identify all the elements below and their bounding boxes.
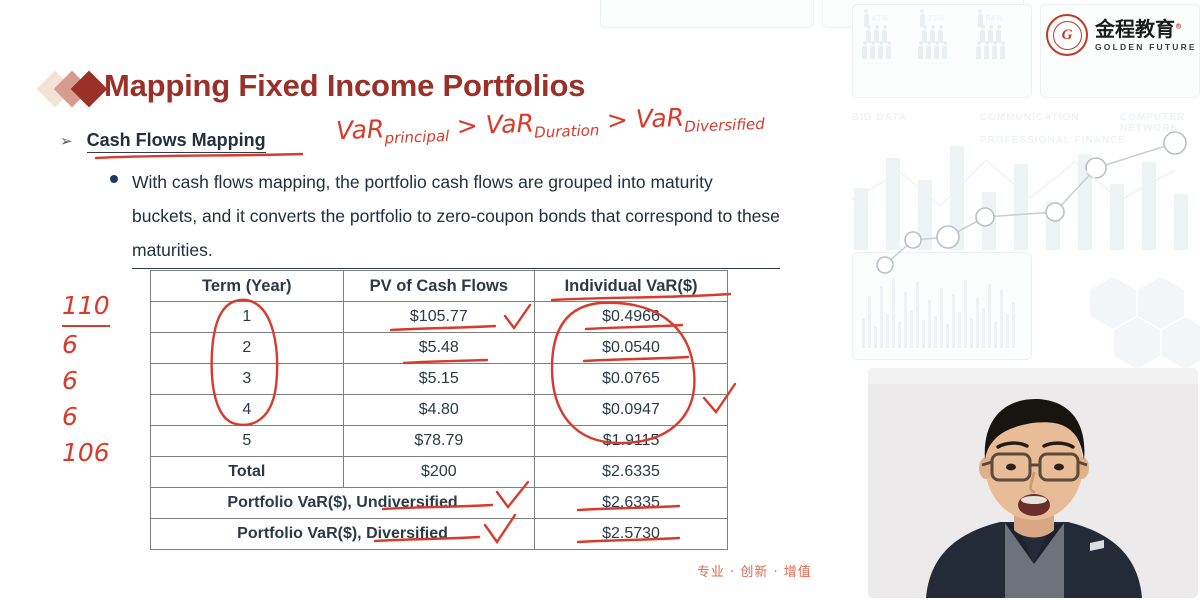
arrow-bullet-icon: ➢ bbox=[60, 134, 73, 149]
bg-people-group-1: 47% bbox=[862, 14, 891, 59]
table-row: 1 $105.77 $0.4966 bbox=[151, 302, 728, 333]
bg-pct-2: 73% bbox=[928, 14, 946, 27]
cell-total-pv: $200 bbox=[343, 457, 535, 488]
cell-var: $0.0540 bbox=[535, 333, 728, 364]
bg-word-3: COMPUTER NETWORK bbox=[1120, 112, 1200, 134]
footer-slogan: 专业 · 创新 · 增值 bbox=[697, 561, 812, 580]
seal-monogram: G bbox=[1053, 21, 1082, 50]
margin-number-2: 6 bbox=[62, 363, 110, 399]
bg-card-top-mid bbox=[822, 0, 1024, 28]
slide-canvas: 47% 73% 84% BIG DATA COMMUNICATION COMPU… bbox=[0, 0, 1200, 600]
handwritten-var-inequality: VaRprincipal > VaRDuration > VaRDiversif… bbox=[336, 100, 766, 149]
registered-mark: ® bbox=[1175, 22, 1182, 30]
bg-hexagon-4 bbox=[1162, 330, 1200, 356]
col-header-pv: PV of Cash Flows bbox=[343, 271, 535, 302]
col-header-term: Term (Year) bbox=[151, 271, 344, 302]
bg-card-top-left bbox=[600, 0, 814, 28]
cell-total-label: Total bbox=[151, 457, 344, 488]
bg-hexagon-2 bbox=[1138, 290, 1184, 316]
handwritten-margin-cashflows: 110 6 6 6 106 bbox=[62, 288, 110, 471]
seal-icon: G bbox=[1046, 14, 1088, 56]
margin-number-0: 110 bbox=[62, 288, 110, 327]
cell-diversified-label: Portfolio VaR($), Diversified bbox=[151, 519, 535, 550]
cell-total-var: $2.6335 bbox=[535, 457, 728, 488]
cell-var: $0.4966 bbox=[535, 302, 728, 333]
bg-waveform bbox=[862, 268, 1022, 348]
cell-pv: $4.80 bbox=[343, 395, 535, 426]
bg-pct-3: 84% bbox=[986, 14, 1004, 27]
table-row: 4 $4.80 $0.0947 bbox=[151, 395, 728, 426]
col-header-var: Individual VaR($) bbox=[535, 271, 728, 302]
margin-number-4: 106 bbox=[62, 435, 110, 471]
cell-term: 2 bbox=[151, 333, 344, 364]
table-row: 5 $78.79 $1.9115 bbox=[151, 426, 728, 457]
presenter-video-thumbnail[interactable] bbox=[868, 368, 1198, 598]
logo-english-name: GOLDEN FUTURE bbox=[1095, 42, 1197, 52]
cell-var: $0.0947 bbox=[535, 395, 728, 426]
cell-term: 3 bbox=[151, 364, 344, 395]
ink-underline-level1 bbox=[96, 154, 302, 158]
cell-pv: $78.79 bbox=[343, 426, 535, 457]
cell-term: 5 bbox=[151, 426, 344, 457]
table-row: 3 $5.15 $0.0765 bbox=[151, 364, 728, 395]
bg-bar-chart bbox=[852, 140, 1200, 250]
dot-bullet-icon bbox=[110, 175, 118, 183]
margin-number-1: 6 bbox=[62, 327, 110, 363]
cell-diversified-value: $2.5730 bbox=[535, 519, 728, 550]
table-row: 2 $5.48 $0.0540 bbox=[151, 333, 728, 364]
bg-pct-1: 47% bbox=[872, 14, 890, 27]
bg-word-1: BIG DATA bbox=[852, 112, 907, 123]
cell-term: 4 bbox=[151, 395, 344, 426]
page-title: Mapping Fixed Income Portfolios bbox=[104, 68, 585, 104]
bg-people-group-2: 73% bbox=[918, 14, 947, 59]
cell-pv: $5.48 bbox=[343, 333, 535, 364]
logo-chinese-name: 金程教育® bbox=[1095, 19, 1197, 39]
level1-bullet-text: Cash Flows Mapping bbox=[87, 130, 266, 153]
table-row-total: Total $200 $2.6335 bbox=[151, 457, 728, 488]
cell-var: $0.0765 bbox=[535, 364, 728, 395]
level1-bullet-row: ➢ Cash Flows Mapping bbox=[60, 130, 266, 153]
cell-undiversified-value: $2.6335 bbox=[535, 488, 728, 519]
bg-card-waveform bbox=[852, 252, 1032, 360]
level2-bullet-row: With cash flows mapping, the portfolio c… bbox=[110, 165, 780, 269]
presenter-illustration bbox=[868, 368, 1198, 598]
cell-pv: $105.77 bbox=[343, 302, 535, 333]
table-header-row: Term (Year) PV of Cash Flows Individual … bbox=[151, 271, 728, 302]
cash-flow-var-table: Term (Year) PV of Cash Flows Individual … bbox=[150, 270, 728, 550]
bg-hexagon-1 bbox=[1090, 290, 1136, 316]
bg-word-4: PROFESSIONAL FINANCE bbox=[980, 135, 1126, 146]
cell-var: $1.9115 bbox=[535, 426, 728, 457]
margin-number-3: 6 bbox=[62, 399, 110, 435]
bg-word-2: COMMUNICATION bbox=[980, 112, 1079, 123]
level2-bullet-text: With cash flows mapping, the portfolio c… bbox=[132, 165, 780, 269]
cell-pv: $5.15 bbox=[343, 364, 535, 395]
table-row-diversified: Portfolio VaR($), Diversified $2.5730 bbox=[151, 519, 728, 550]
bg-people-group-3: 84% bbox=[976, 14, 1005, 59]
brand-logo: G 金程教育® GOLDEN FUTURE bbox=[1046, 14, 1197, 56]
table-row-undiversified: Portfolio VaR($), Undiversified $2.6335 bbox=[151, 488, 728, 519]
bg-card-people bbox=[852, 4, 1032, 98]
cell-term: 1 bbox=[151, 302, 344, 333]
bg-hexagon-3 bbox=[1114, 330, 1160, 356]
cell-undiversified-label: Portfolio VaR($), Undiversified bbox=[151, 488, 535, 519]
